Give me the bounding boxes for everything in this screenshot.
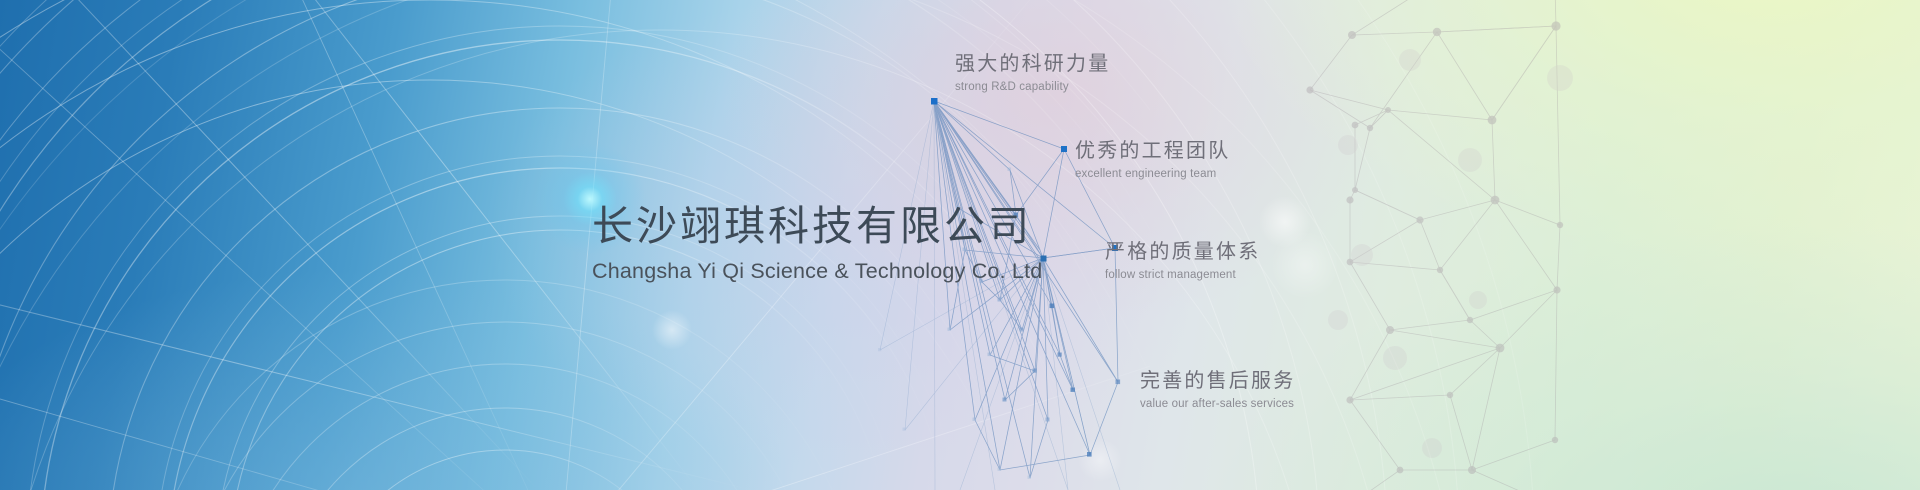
feature-cn-service: 完善的售后服务 [1140, 369, 1295, 394]
company-name-cn: 长沙翊琪科技有限公司 [592, 203, 1042, 250]
feature-en-team: excellent engineering team [1075, 168, 1230, 180]
feature-en-service: value our after-sales services [1140, 398, 1295, 410]
feature-cn-quality: 严格的质量体系 [1105, 240, 1260, 265]
feature-label-service: 完善的售后服务 value our after-sales services [1140, 369, 1295, 410]
feature-en-rd: strong R&D capability [955, 81, 1110, 93]
feature-label-rd: 强大的科研力量 strong R&D capability [955, 52, 1110, 93]
company-title-block: 长沙翊琪科技有限公司 Changsha Yi Qi Science & Tech… [592, 203, 1042, 284]
company-name-en: Changsha Yi Qi Science & Technology Co. … [592, 259, 1042, 284]
feature-cn-rd: 强大的科研力量 [955, 52, 1110, 77]
feature-cn-team: 优秀的工程团队 [1075, 139, 1230, 164]
company-banner: 长沙翊琪科技有限公司 Changsha Yi Qi Science & Tech… [0, 0, 1920, 490]
feature-en-quality: follow strict management [1105, 269, 1260, 281]
feature-label-team: 优秀的工程团队 excellent engineering team [1075, 139, 1230, 180]
feature-label-quality: 严格的质量体系 follow strict management [1105, 240, 1260, 281]
